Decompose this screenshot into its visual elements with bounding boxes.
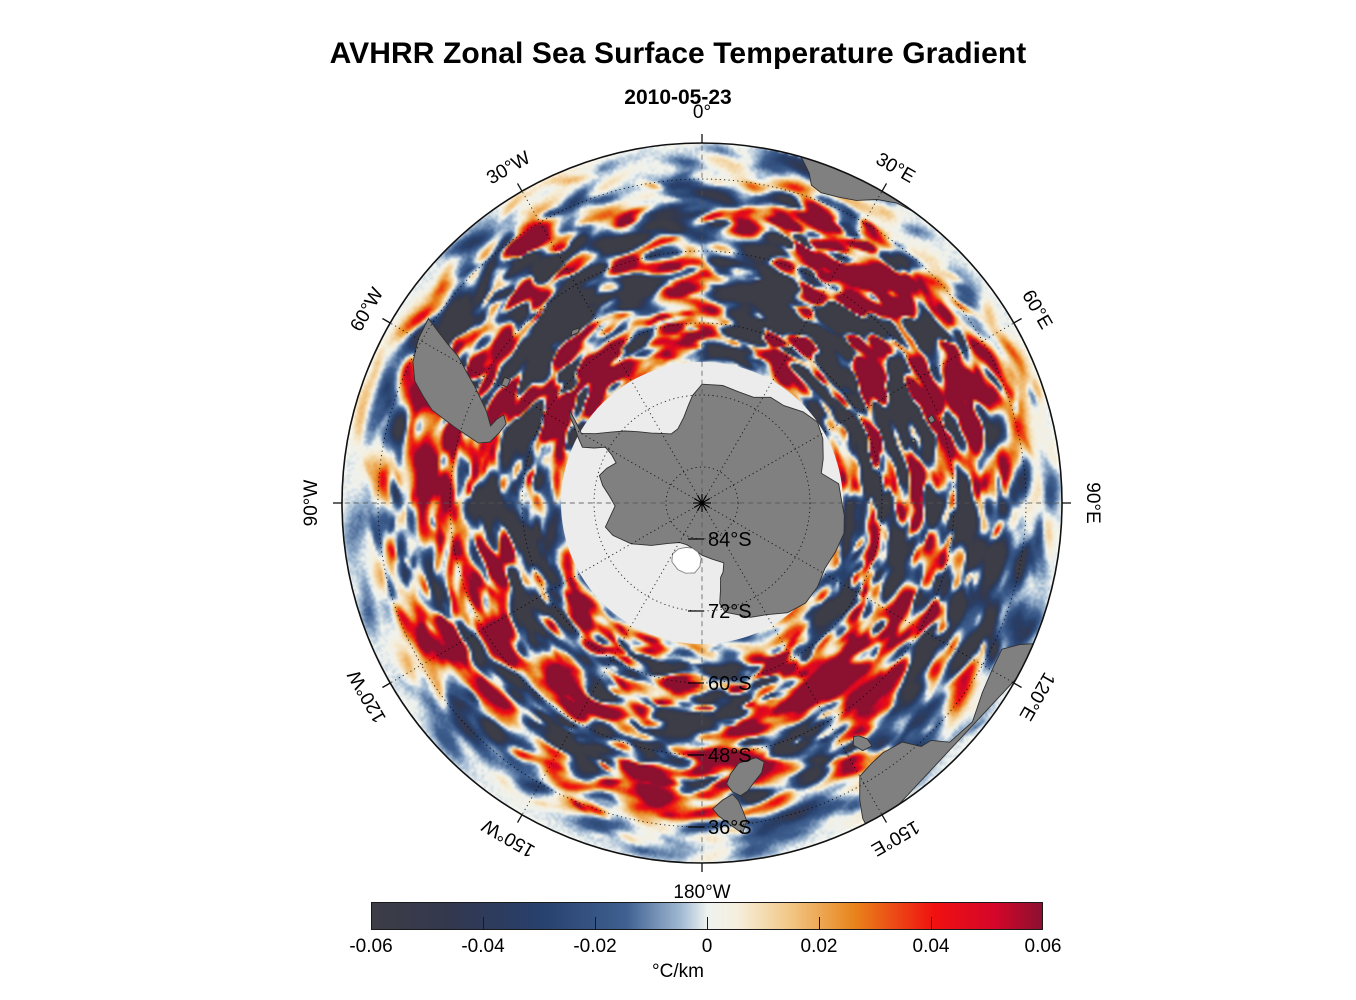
longitude-label: 120°W [344, 666, 391, 726]
colorbar-tick-label: 0.06 [983, 936, 1103, 958]
longitude-tick [882, 183, 887, 191]
colorbar-tick [707, 917, 708, 930]
polar-map: 0°30°E60°E90°E120°E150°E180°W150°W120°W9… [0, 0, 1356, 1000]
longitude-label: 150°E [867, 816, 923, 860]
latitude-label: 60°S [708, 673, 752, 695]
colorbar-tick [819, 917, 820, 930]
longitude-label: 90°W [301, 480, 322, 527]
colorbar-tick-label: -0.06 [311, 936, 431, 958]
longitude-label: 150°W [479, 814, 539, 861]
colorbar-tick [595, 917, 596, 930]
longitude-tick [1014, 683, 1022, 688]
longitude-tick [882, 815, 887, 823]
longitude-label: 120°E [1015, 668, 1059, 724]
longitude-tick [518, 183, 523, 191]
colorbar-tick-label: 0.04 [871, 936, 991, 958]
colorbar-ticks [371, 917, 1043, 931]
longitude-label: 30°E [872, 149, 918, 188]
land-heard [912, 439, 916, 443]
colorbar-unit-label: °C/km [0, 961, 1356, 983]
longitude-label: 60°W [347, 284, 389, 335]
colorbar-tick-label: -0.02 [535, 936, 655, 958]
latitude-label: 72°S [708, 601, 752, 623]
colorbar-tick-label: 0.02 [759, 936, 879, 958]
colorbar-tick [483, 917, 484, 930]
longitude-tick [382, 319, 390, 324]
longitude-tick [518, 815, 523, 823]
longitude-label: 60°E [1017, 287, 1056, 333]
land-bouvet [714, 289, 716, 291]
longitude-label: 30°W [483, 148, 534, 190]
longitude-label: 0° [693, 102, 711, 123]
latitude-label: 36°S [708, 817, 752, 839]
colorbar-tick-label: 0 [647, 936, 767, 958]
longitude-label: 180°W [673, 882, 730, 903]
longitude-label: 90°E [1082, 482, 1103, 523]
latitude-label: 48°S [708, 745, 752, 767]
map-canvas: 0°30°E60°E90°E120°E150°E180°W150°W120°W9… [0, 0, 1356, 1000]
latitude-label: 84°S [708, 529, 752, 551]
colorbar-tick-labels: -0.06-0.04-0.0200.020.040.06 [271, 936, 1143, 962]
colorbar-tick [931, 917, 932, 930]
longitude-tick [1014, 319, 1022, 324]
colorbar-tick-label: -0.04 [423, 936, 543, 958]
longitude-tick [382, 683, 390, 688]
